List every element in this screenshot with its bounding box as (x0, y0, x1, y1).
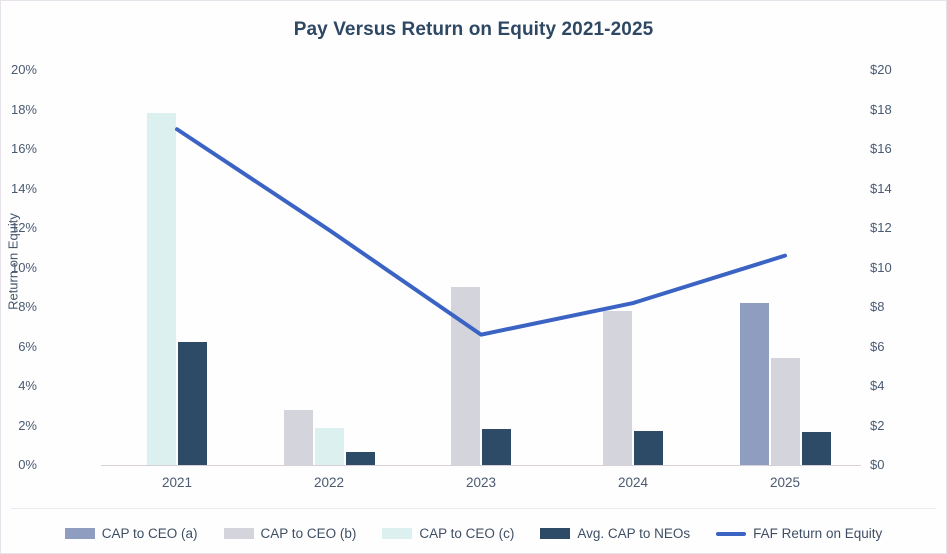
y-tick-label-right: $10 (870, 261, 930, 274)
y-tick-label-right: $2 (870, 419, 930, 432)
y-tick-label-right: $16 (870, 142, 930, 155)
legend-label: FAF Return on Equity (753, 526, 882, 541)
legend-label: Avg. CAP to NEOs (577, 526, 690, 541)
legend-label: CAP to CEO (a) (102, 526, 198, 541)
legend-divider (11, 508, 936, 509)
x-axis-label: 2025 (715, 475, 855, 490)
legend-swatch-cap-to-ceo-a-icon (65, 528, 95, 539)
plot-area (101, 70, 861, 465)
y-tick-label-right: $0 (870, 458, 930, 471)
chart-title: Pay Versus Return on Equity 2021-2025 (1, 19, 946, 41)
y-tick-label-right: $14 (870, 182, 930, 195)
chart-legend: CAP to CEO (a)CAP to CEO (b)CAP to CEO (… (1, 526, 946, 541)
legend-swatch-cap-to-ceo-c-icon (382, 528, 412, 539)
y-tick-label-left: 18% (0, 103, 37, 116)
line-series-layer (101, 70, 861, 465)
x-axis-label: 2024 (563, 475, 703, 490)
legend-swatch-cap-to-ceo-b-icon (224, 528, 254, 539)
legend-item-cap-to-ceo-a[interactable]: CAP to CEO (a) (65, 526, 198, 541)
y-tick-label-left: 4% (0, 379, 37, 392)
legend-item-faf-return-on-equity[interactable]: FAF Return on Equity (716, 526, 882, 541)
legend-item-cap-to-ceo-b[interactable]: CAP to CEO (b) (224, 526, 357, 541)
x-axis-label: 2021 (107, 475, 247, 490)
y-tick-label-right: $18 (870, 103, 930, 116)
y-tick-label-right: $20 (870, 63, 930, 76)
y-tick-label-left: 20% (0, 63, 37, 76)
y-tick-label-right: $4 (870, 379, 930, 392)
line-series-faf-return-on-equity[interactable] (177, 129, 785, 334)
y-tick-label-left: 6% (0, 340, 37, 353)
y-tick-label-left: 16% (0, 142, 37, 155)
y-tick-label-right: $8 (870, 300, 930, 313)
x-axis-label: 2023 (411, 475, 551, 490)
y-tick-label-left: 2% (0, 419, 37, 432)
y-tick-label-right: $12 (870, 221, 930, 234)
chart-container: Pay Versus Return on Equity 2021-2025 Re… (0, 0, 947, 554)
x-axis-label: 2022 (259, 475, 399, 490)
y-tick-label-right: $6 (870, 340, 930, 353)
legend-item-cap-to-ceo-c[interactable]: CAP to CEO (c) (382, 526, 514, 541)
y-tick-label-left: 14% (0, 182, 37, 195)
x-axis-baseline (101, 465, 861, 466)
y-tick-label-left: 0% (0, 458, 37, 471)
legend-label: CAP to CEO (c) (419, 526, 514, 541)
legend-item-avg-cap-to-neos[interactable]: Avg. CAP to NEOs (540, 526, 690, 541)
legend-swatch-faf-return-on-equity-icon (716, 532, 746, 536)
y-tick-label-left: 10% (0, 261, 37, 274)
legend-label: CAP to CEO (b) (261, 526, 357, 541)
y-tick-label-left: 12% (0, 221, 37, 234)
y-tick-label-left: 8% (0, 300, 37, 313)
legend-swatch-avg-cap-to-neos-icon (540, 528, 570, 539)
